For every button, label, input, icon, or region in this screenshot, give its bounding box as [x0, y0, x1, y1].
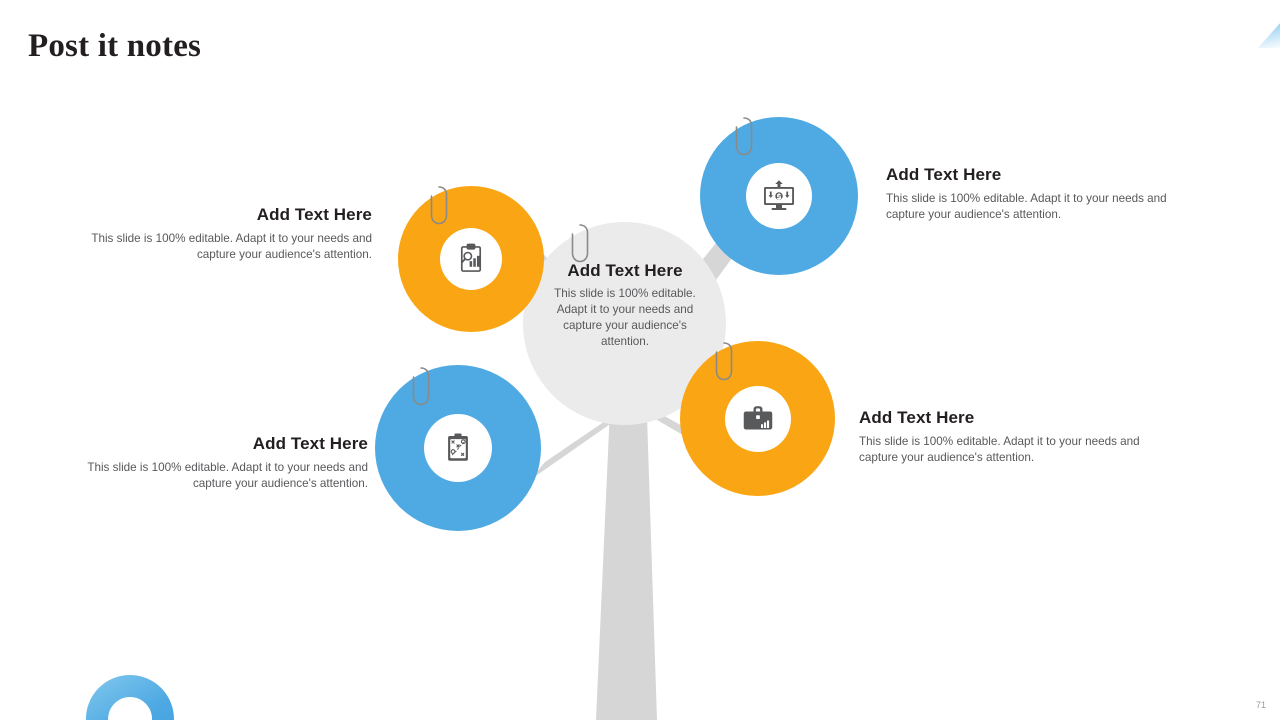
node-heading-1: Add Text Here	[90, 205, 372, 225]
ring-decoration-icon	[84, 673, 176, 720]
node-heading-4: Add Text Here	[859, 408, 1141, 428]
monitor-money-transfer-icon	[761, 178, 797, 214]
briefcase-chart-icon	[740, 401, 776, 437]
node-text-3: Add Text Here This slide is 100% editabl…	[86, 434, 368, 492]
node-icon-wrapper-4	[725, 386, 791, 452]
paperclip-icon-4	[713, 340, 735, 384]
node-text-4: Add Text Here This slide is 100% editabl…	[859, 408, 1141, 466]
paperclip-icon-1	[428, 184, 450, 228]
node-body-2: This slide is 100% editable. Adapt it to…	[886, 191, 1176, 223]
node-body-3: This slide is 100% editable. Adapt it to…	[86, 460, 368, 492]
page-title: Post it notes	[28, 28, 201, 65]
node-circle-4[interactable]	[680, 341, 835, 496]
node-circle-2[interactable]	[700, 117, 858, 275]
page-number: 71	[1256, 700, 1266, 710]
node-body-4: This slide is 100% editable. Adapt it to…	[859, 434, 1141, 466]
slide-canvas: Post it notes	[0, 0, 1280, 720]
node-heading-3: Add Text Here	[86, 434, 368, 454]
clipboard-strategy-icon	[441, 431, 475, 465]
paperclip-icon-center	[569, 222, 591, 266]
node-icon-wrapper-3	[424, 414, 492, 482]
node-circle-1[interactable]	[398, 186, 544, 332]
node-text-2: Add Text Here This slide is 100% editabl…	[886, 165, 1176, 223]
paperclip-icon-3	[410, 365, 432, 409]
center-node-heading: Add Text Here	[550, 261, 700, 281]
center-node-text: Add Text Here This slide is 100% editabl…	[550, 261, 700, 350]
clipboard-analysis-icon	[454, 242, 488, 276]
node-icon-wrapper-1	[440, 228, 502, 290]
node-heading-2: Add Text Here	[886, 165, 1176, 185]
paperclip-icon-2	[733, 115, 755, 159]
node-icon-wrapper-2	[746, 163, 812, 229]
node-text-1: Add Text Here This slide is 100% editabl…	[90, 205, 372, 263]
node-circle-3[interactable]	[375, 365, 541, 531]
node-body-1: This slide is 100% editable. Adapt it to…	[90, 231, 372, 263]
center-node-body: This slide is 100% editable. Adapt it to…	[550, 286, 700, 350]
